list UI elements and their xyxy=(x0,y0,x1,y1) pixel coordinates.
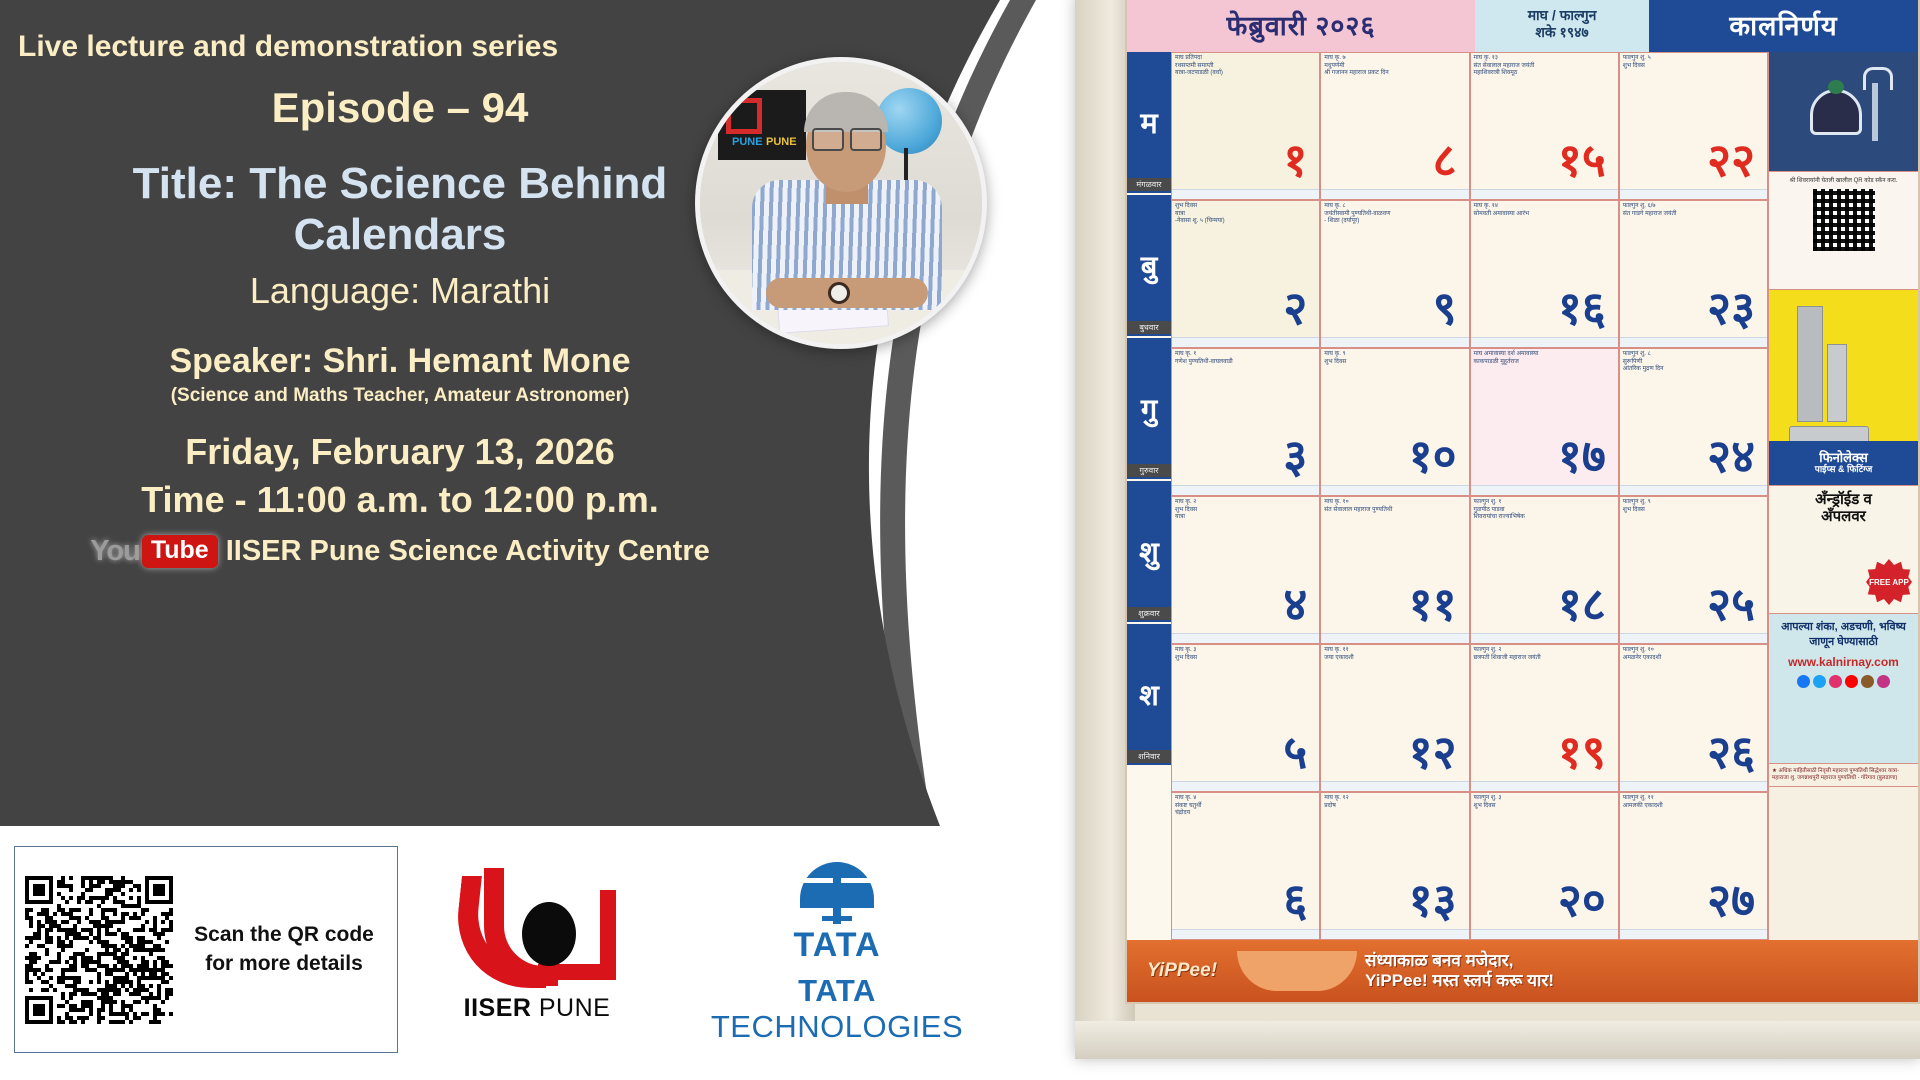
day-note: माघ प्रतिपदा रथसप्तमी समाप्ती यात्रा-जटप… xyxy=(1172,53,1319,80)
calendar-day-cell: फाल्गुन शु. ५ शुभ दिवस२२ xyxy=(1619,52,1768,200)
kalnirnay-website-ad: आपल्या शंका, अडचणी, भविष्य जाणून घेण्यास… xyxy=(1769,614,1918,764)
day-note: माघ कृ. ९ शुभ दिवस xyxy=(1321,349,1468,368)
weekday-initial: बु xyxy=(1141,246,1158,285)
android-app-ad: अँन्ड्रॉईड व अँपलवर FREE APP xyxy=(1769,486,1918,614)
weekday-initial: श xyxy=(1139,675,1159,714)
day-number: २४ xyxy=(1707,433,1755,479)
speaker-credentials: (Science and Maths Teacher, Amateur Astr… xyxy=(0,385,800,407)
pune-poster-board: PUNE PUNE xyxy=(718,90,806,160)
day-timing-strip xyxy=(1620,781,1767,791)
weekday-rail: ममंगळवारबुबुधवारगुगुरुवारशुशुक्रवारशशनिव… xyxy=(1127,52,1171,940)
calendar-day-cell: माघ कृ. १० संत सेवालाल महाराज पुण्यतिथी१… xyxy=(1320,496,1469,644)
weekday-name: शनिवार xyxy=(1127,750,1171,763)
day-note: फाल्गुन शु. २ छत्रपती शिवाजी महाराज जयंत… xyxy=(1471,645,1618,664)
day-timing-strip xyxy=(1321,633,1468,643)
day-timing-strip xyxy=(1321,189,1468,199)
yippee-msg-line1: संध्याकाळ बनव मजेदार, xyxy=(1365,951,1554,971)
website-ad-url: www.kalnirnay.com xyxy=(1773,655,1914,669)
day-timing-strip xyxy=(1172,337,1319,347)
calendar-ad-rail: श्री शिवरायांनी घेतली खालील QR कोड स्कॅन… xyxy=(1768,52,1918,940)
yippee-brand-logo: YiPPee! xyxy=(1127,960,1237,982)
weekday-cell-0: ममंगळवार xyxy=(1127,52,1171,195)
calendar-day-cell: फाल्गुन शु. ११ आमलकी एकादशी२७ xyxy=(1619,792,1768,940)
tata-mark-word: TATA xyxy=(672,926,1002,965)
day-timing-strip xyxy=(1321,337,1468,347)
day-number: ६ xyxy=(1283,877,1307,923)
facebook-icon xyxy=(1797,675,1810,688)
day-number: २ xyxy=(1283,285,1307,331)
speaker-name: Speaker: Shri. Hemant Mone xyxy=(0,342,800,381)
calendar-month-title: फेब्रुवारी २०२६ xyxy=(1127,0,1475,52)
calendar-day-cell: माघ कृ. २ शुभ दिवस यात्रा४ xyxy=(1171,496,1320,644)
calendar-day-cell: फाल्गुन शु. ९ शुभ दिवस२५ xyxy=(1619,496,1768,644)
day-note: माघ कृ. १४ सोमवती अमावास्या आरंभ xyxy=(1471,201,1618,220)
calendar-day-cell: फाल्गुन शु. ३ शुभ दिवस२० xyxy=(1470,792,1619,940)
iiser-light-text: PUNE xyxy=(531,994,610,1022)
calendar-day-cell: माघ कृ. १ गणेश पुण्यतिथी-वाघलवाडी३ xyxy=(1171,348,1320,496)
youtube-channel-name: IISER Pune Science Activity Centre xyxy=(226,535,710,568)
calendar-qr-note: श्री शिवरायांनी घेतली खालील QR कोड स्कॅन… xyxy=(1773,178,1914,186)
calendar-day-cell: माघ कृ. ७ मधुपर्णमी श्री गजानन महाराज प्… xyxy=(1320,52,1469,200)
calendar-day-cell: माघ कृ. ९ शुभ दिवस१० xyxy=(1320,348,1469,496)
day-note: माघ कृ. १ गणेश पुण्यतिथी-वाघलवाडी xyxy=(1172,349,1319,368)
calendar-day-cell: फाल्गुन शु. ८ सुरूपिणी आंतरिक मुद्रण दिन… xyxy=(1619,348,1768,496)
day-number: १६ xyxy=(1558,285,1606,331)
poster-square-icon xyxy=(726,98,762,134)
day-timing-strip xyxy=(1172,485,1319,495)
iiser-pune-logo: IISER PUNE xyxy=(448,866,626,1034)
pinterest-icon xyxy=(1861,675,1874,688)
calendar-day-cell: माघ कृ. ८ जयंतीस्वामी पुण्यतिथी-वाळवण - … xyxy=(1320,200,1469,348)
shaka-months: माघ / फाल्गुन xyxy=(1528,7,1597,25)
day-note: माघ कृ. १० संत सेवालाल महाराज पुण्यतिथी xyxy=(1321,497,1468,516)
day-timing-strip xyxy=(1471,337,1618,347)
weekday-name: बुधवार xyxy=(1127,321,1171,334)
calendar-day-cell: फाल्गुन शु. १० अमळनेर एकादशी२६ xyxy=(1619,644,1768,792)
day-timing-strip xyxy=(1620,633,1767,643)
calendar-day-cell: माघ कृ. १३ संत सेवालाल महाराज जयंती महाश… xyxy=(1470,52,1619,200)
calendar-day-cell: माघ कृ. १४ सोमवती अमावास्या आरंभ१६ xyxy=(1470,200,1619,348)
day-note: फाल्गुन शु. १० अमळनेर एकादशी xyxy=(1620,645,1767,664)
day-timing-strip xyxy=(1620,189,1767,199)
calendar-day-cell: माघ कृ. ११ जया एकादशी१२ xyxy=(1320,644,1469,792)
day-timing-strip xyxy=(1471,633,1618,643)
shivling-icon xyxy=(1810,89,1862,135)
day-note: माघ कृ. ३ शुभ दिवस xyxy=(1172,645,1319,664)
youtube-channel-row[interactable]: You Tube IISER Pune Science Activity Cen… xyxy=(0,535,800,568)
calendar-date-grid: माघ प्रतिपदा रथसप्तमी समाप्ती यात्रा-जटप… xyxy=(1171,52,1768,940)
youtube-you-text: You xyxy=(90,535,140,568)
day-note: फाल्गुन शु. ११ आमलकी एकादशी xyxy=(1620,793,1767,812)
weekday-initial: गु xyxy=(1141,389,1157,428)
yippee-noodles-ad: YiPPee! संध्याकाळ बनव मजेदार, YiPPee! मस… xyxy=(1127,940,1918,1002)
day-number: ५ xyxy=(1283,729,1307,775)
day-number: २५ xyxy=(1707,581,1755,627)
day-note: फाल्गुन शु. ९ शुभ दिवस xyxy=(1620,497,1767,516)
day-number: १३ xyxy=(1409,877,1457,923)
day-note: फाल्गुन शु. ६/७ संत गाडगे महाराज जयंती xyxy=(1620,201,1767,220)
calendar-day-cell: फाल्गुन शु. १ गुळपीठ पाडवा शिवरायांचा रा… xyxy=(1470,496,1619,644)
calendar-qr-ad: श्री शिवरायांनी घेतली खालील QR कोड स्कॅन… xyxy=(1769,172,1918,290)
qr-code-box[interactable]: Scan the QR code for more details xyxy=(14,846,398,1053)
day-note: फाल्गुन शु. ५ शुभ दिवस xyxy=(1620,53,1767,72)
language-label: Language: Marathi xyxy=(0,270,800,312)
day-timing-strip xyxy=(1172,929,1319,939)
calendar-day-cell: माघ कृ. १२ प्रदोष१३ xyxy=(1320,792,1469,940)
day-note: फाल्गुन शु. ८ सुरूपिणी आंतरिक मुद्रण दिन xyxy=(1620,349,1767,376)
tata-emblem xyxy=(800,862,874,924)
day-number: १७ xyxy=(1558,433,1606,479)
calendar-qr-code-icon xyxy=(1813,189,1875,251)
social-icons-row xyxy=(1773,675,1914,688)
day-timing-strip xyxy=(1471,781,1618,791)
day-number: १५ xyxy=(1558,137,1606,183)
share-icon xyxy=(1877,675,1890,688)
calendar-footer-note: ★ अधिक माहितीसाठी निवृत्ती महाराज पुण्यत… xyxy=(1769,764,1918,787)
calendar-day-cell: माघ अमावास्या दर्श अमावास्या काकपाडळी मु… xyxy=(1470,348,1619,496)
desk-surface xyxy=(1075,1021,1920,1059)
shaka-year: शके १९४७ xyxy=(1535,24,1588,42)
tata-full-light: TECHNOLOGIES xyxy=(711,1009,963,1044)
poster-text-2: PUNE xyxy=(766,136,797,148)
calendar-shaka-block: माघ / फाल्गुन शके १९४७ xyxy=(1475,0,1649,52)
qr-code-image[interactable] xyxy=(25,876,173,1024)
weekday-cell-4: शशनिवार xyxy=(1127,624,1171,767)
finolex-brand-sub: पाईप्स & फिटिंग्ज xyxy=(1815,465,1873,475)
day-number: ३ xyxy=(1283,433,1307,479)
android-ad-line1: अँन्ड्रॉईड व xyxy=(1773,492,1914,509)
day-number: २३ xyxy=(1707,285,1755,331)
day-timing-strip xyxy=(1471,189,1618,199)
day-note: माघ कृ. ४ संकष्ट चतुर्थी चंद्रोदय xyxy=(1172,793,1319,820)
day-number: २० xyxy=(1558,877,1606,923)
calendar-day-cell: माघ प्रतिपदा रथसप्तमी समाप्ती यात्रा-जटप… xyxy=(1171,52,1320,200)
day-timing-strip xyxy=(1321,781,1468,791)
day-note: माघ कृ. १२ प्रदोष xyxy=(1321,793,1468,812)
day-number: २७ xyxy=(1707,877,1755,923)
day-number: १ xyxy=(1283,137,1307,183)
day-note: माघ कृ. ११ जया एकादशी xyxy=(1321,645,1468,664)
poster-text-1: PUNE xyxy=(732,136,763,148)
tata-full-bold: TATA xyxy=(798,973,876,1008)
day-number: १२ xyxy=(1409,729,1457,775)
youtube-icon xyxy=(1845,675,1858,688)
instagram-icon xyxy=(1829,675,1842,688)
poster-text-block: Live lecture and demonstration series Ep… xyxy=(0,0,800,568)
android-ad-line2: अँपलवर xyxy=(1773,509,1914,526)
weekday-cell-3: शुशुक्रवार xyxy=(1127,481,1171,624)
speaker-avatar: PUNE PUNE xyxy=(695,57,987,349)
calendar-sheet: फेब्रुवारी २०२६ माघ / फाल्गुन शके १९४७ क… xyxy=(1125,0,1920,1004)
tata-full-wordmark: TATA TECHNOLOGIES xyxy=(672,973,1002,1045)
day-timing-strip xyxy=(1471,929,1618,939)
day-number: २२ xyxy=(1707,137,1755,183)
day-note: माघ कृ. १३ संत सेवालाल महाराज जयंती महाश… xyxy=(1471,53,1618,80)
weekday-initial: म xyxy=(1140,103,1157,142)
tata-stem-shape xyxy=(833,872,841,924)
episode-number: Episode – 94 xyxy=(0,84,800,132)
yippee-ad-message: संध्याकाळ बनव मजेदार, YiPPee! मस्त स्लर्… xyxy=(1365,951,1554,992)
eyeglasses-icon xyxy=(812,128,882,147)
day-timing-strip xyxy=(1172,633,1319,643)
day-number: १० xyxy=(1409,433,1457,479)
day-timing-strip xyxy=(1620,337,1767,347)
day-note: फाल्गुन शु. ३ शुभ दिवस xyxy=(1471,793,1618,812)
day-number: २६ xyxy=(1707,729,1755,775)
weekday-name: मंगळवार xyxy=(1127,178,1171,191)
calendar-day-cell: फाल्गुन शु. २ छत्रपती शिवाजी महाराज जयंत… xyxy=(1470,644,1619,792)
iiser-seed-dot xyxy=(522,902,576,966)
qr-caption: Scan the QR code for more details xyxy=(173,921,387,978)
day-number: १८ xyxy=(1558,581,1606,627)
day-number: ८ xyxy=(1433,137,1457,183)
weekday-cell-1: बुबुधवार xyxy=(1127,195,1171,338)
wristwatch-icon xyxy=(828,282,850,304)
free-app-badge: FREE APP xyxy=(1866,559,1912,605)
day-number: १९ xyxy=(1558,729,1606,775)
yippee-msg-line2: YiPPee! मस्त स्लर्प करू यार! xyxy=(1365,971,1554,991)
day-timing-strip xyxy=(1471,485,1618,495)
youtube-tube-badge: Tube xyxy=(142,535,218,568)
day-note: शुभ दिवस यात्रा -नेवासा शु. ५ (चिन्मया) xyxy=(1172,201,1319,228)
calendar-day-cell: फाल्गुन शु. ६/७ संत गाडगे महाराज जयंती२३ xyxy=(1619,200,1768,348)
tata-technologies-logo: TATA TATA TECHNOLOGIES xyxy=(672,862,1002,1045)
trishul-icon xyxy=(1872,83,1878,141)
lecture-title: Title: The Science Behind Calendars xyxy=(0,158,800,260)
kalnirnay-calendar-photo: फेब्रुवारी २०२६ माघ / फाल्गुन शके १९४७ क… xyxy=(1075,0,1920,1059)
shiva-illustration xyxy=(1769,52,1918,172)
calendar-day-cell: माघ कृ. ३ शुभ दिवस५ xyxy=(1171,644,1320,792)
twitter-icon xyxy=(1813,675,1826,688)
calendar-day-cell: माघ कृ. ४ संकष्ट चतुर्थी चंद्रोदय६ xyxy=(1171,792,1320,940)
finolex-brand-band: फिनोलेक्स पाईप्स & फिटिंग्ज xyxy=(1769,441,1918,485)
iiser-bold-text: IISER xyxy=(464,994,532,1022)
noodle-bowl-graphic xyxy=(1237,951,1357,991)
iiser-emblem xyxy=(448,866,626,992)
poster-footer-bar: Scan the QR code for more details IISER … xyxy=(0,826,1000,1080)
day-timing-strip xyxy=(1172,189,1319,199)
day-timing-strip xyxy=(1321,485,1468,495)
day-timing-strip xyxy=(1321,929,1468,939)
youtube-logo[interactable]: You Tube xyxy=(90,535,218,568)
finolex-pipes-ad: फिनोलेक्स पाईप्स & फिटिंग्ज xyxy=(1769,290,1918,486)
day-number: ४ xyxy=(1283,581,1307,627)
day-timing-strip xyxy=(1620,929,1767,939)
website-ad-heading: आपल्या शंका, अडचणी, भविष्य जाणून घेण्यास… xyxy=(1773,620,1914,650)
series-heading: Live lecture and demonstration series xyxy=(18,30,800,64)
weekday-initial: शु xyxy=(1139,532,1159,571)
iiser-wordmark: IISER PUNE xyxy=(448,994,626,1023)
day-note: फाल्गुन शु. १ गुळपीठ पाडवा शिवरायांचा रा… xyxy=(1471,497,1618,524)
day-number: ९ xyxy=(1433,285,1457,331)
calendar-masthead: फेब्रुवारी २०२६ माघ / फाल्गुन शके १९४७ क… xyxy=(1127,0,1918,52)
day-number: ११ xyxy=(1409,581,1457,627)
calendar-day-cell: शुभ दिवस यात्रा -नेवासा शु. ५ (चिन्मया)२ xyxy=(1171,200,1320,348)
day-note: माघ कृ. २ शुभ दिवस यात्रा xyxy=(1172,497,1319,524)
event-time: Time - 11:00 a.m. to 12:00 p.m. xyxy=(0,479,800,521)
day-note: माघ अमावास्या दर्श अमावास्या काकपाडळी मु… xyxy=(1471,349,1618,368)
day-timing-strip xyxy=(1172,781,1319,791)
event-date: Friday, February 13, 2026 xyxy=(0,431,800,473)
weekday-cell-2: गुगुरुवार xyxy=(1127,338,1171,481)
kalnirnay-brand-logo: कालनिर्णय xyxy=(1649,0,1918,52)
pipe-graphic-2 xyxy=(1827,344,1847,422)
day-note: माघ कृ. ७ मधुपर्णमी श्री गजानन महाराज प्… xyxy=(1321,53,1468,80)
day-timing-strip xyxy=(1620,485,1767,495)
pipe-graphic xyxy=(1797,306,1823,422)
day-note: माघ कृ. ८ जयंतीस्वामी पुण्यतिथी-वाळवण - … xyxy=(1321,201,1468,228)
weekday-name: शुक्रवार xyxy=(1127,607,1171,620)
weekday-name: गुरुवार xyxy=(1127,464,1171,477)
